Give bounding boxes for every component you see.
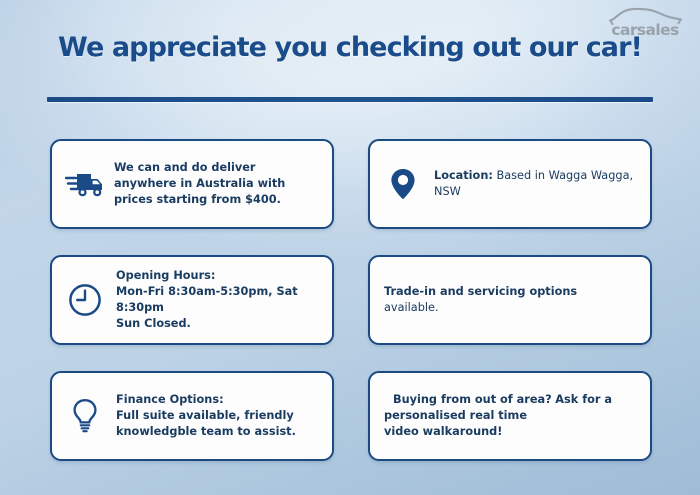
card-title: Finance Options:	[116, 392, 322, 408]
card-title: Opening Hours:	[116, 268, 322, 284]
info-card-text: Opening Hours: Mon-Fri 8:30am-5:30pm, Sa…	[114, 268, 322, 332]
clock-icon	[64, 279, 106, 321]
map-pin-icon	[382, 163, 424, 205]
card-line: available.	[384, 301, 439, 314]
delivery-truck-icon	[64, 163, 106, 205]
card-line: video walkaround!	[384, 425, 502, 438]
info-card-finance: Finance Options: Full suite available, f…	[50, 371, 334, 461]
info-card-text: Location: Based in Wagga Wagga, NSW	[432, 168, 640, 200]
info-card-opening-hours: Opening Hours: Mon-Fri 8:30am-5:30pm, Sa…	[50, 255, 334, 345]
location-value: Based in Wagga Wagga,	[493, 169, 633, 182]
card-line: We can and do deliver	[114, 161, 256, 174]
location-value-line2: NSW	[434, 185, 461, 198]
info-card-out-of-area: Buying from out of area? Ask for a perso…	[368, 371, 652, 461]
card-line: Mon-Fri 8:30am-5:30pm, Sat 8:30pm	[116, 285, 298, 314]
card-title: Buying from out of area?	[384, 392, 552, 408]
promo-banner: carsales We appreciate you checking out …	[0, 0, 700, 495]
info-card-text: Trade-in and servicing options available…	[384, 284, 636, 316]
card-line: Full suite available, friendly	[116, 409, 294, 422]
info-card-text: We can and do deliver anywhere in Austra…	[114, 160, 322, 208]
info-card-text: Finance Options: Full suite available, f…	[114, 392, 322, 440]
info-card-trade-in: Trade-in and servicing options available…	[368, 255, 652, 345]
card-title: Trade-in and servicing options	[384, 284, 636, 300]
location-label: Location:	[434, 169, 493, 182]
info-card-text: Buying from out of area? Ask for a perso…	[384, 392, 636, 440]
card-line: prices starting from $400.	[114, 193, 281, 206]
lightbulb-icon	[64, 395, 106, 437]
card-line: knowledgble team to assist.	[116, 425, 296, 438]
page-title: We appreciate you checking out our car!	[0, 32, 700, 63]
info-card-location: Location: Based in Wagga Wagga, NSW	[368, 139, 652, 229]
card-line: Sun Closed.	[116, 317, 191, 330]
divider	[47, 97, 653, 102]
info-card-delivery: We can and do deliver anywhere in Austra…	[50, 139, 334, 229]
info-card-grid: We can and do deliver anywhere in Austra…	[50, 139, 652, 469]
card-line: anywhere in Australia with	[114, 177, 285, 190]
